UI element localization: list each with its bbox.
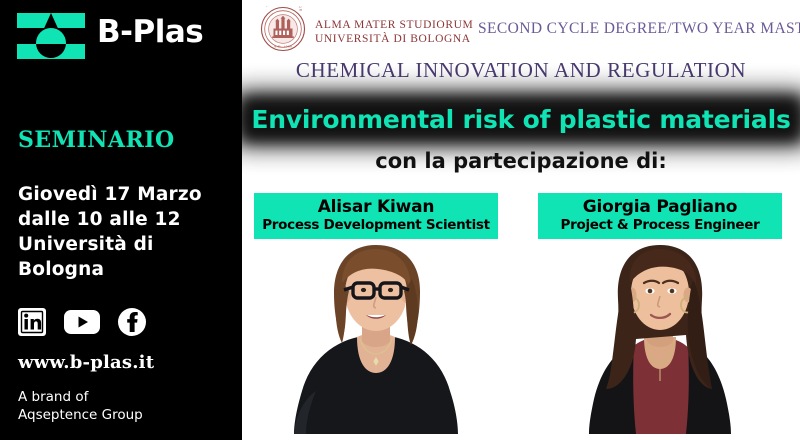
event-date: Giovedì 17 Marzo: [18, 182, 242, 207]
speaker-portrait-giorgia-pagliano: [538, 239, 782, 434]
parent-brand-line1: A brand of: [18, 388, 143, 406]
speaker-badge: Alisar Kiwan Process Development Scienti…: [254, 193, 498, 239]
speaker-name: Giorgia Pagliano: [544, 198, 776, 217]
event-location: Università di Bologna: [18, 232, 242, 282]
university-name-line1: ALMA MATER STUDIORUM: [315, 18, 473, 32]
university-name: ALMA MATER STUDIORUM UNIVERSITÀ DI BOLOG…: [315, 18, 473, 46]
participation-label: con la partecipazione di:: [242, 149, 800, 173]
facebook-icon[interactable]: [118, 308, 146, 341]
seminar-title-band: Environmental risk of plastic materials: [232, 88, 800, 150]
parent-brand-line2: Aqseptence Group: [18, 406, 143, 424]
linkedin-icon[interactable]: [18, 308, 46, 341]
seminar-title: Environmental risk of plastic materials: [242, 88, 800, 150]
b-plas-droplet-logo-icon: [17, 11, 85, 63]
brand-name: B-Plas: [97, 14, 203, 50]
youtube-icon[interactable]: [64, 309, 100, 340]
seminar-poster: B-Plas SEMINARIO Giovedì 17 Marzo dalle …: [0, 0, 800, 440]
event-time: dalle 10 alle 12: [18, 207, 242, 232]
parent-brand: A brand of Aqseptence Group: [18, 388, 143, 424]
social-links: [18, 308, 146, 341]
speaker-role: Project & Process Engineer: [544, 217, 776, 233]
website-link[interactable]: www.b-plas.it: [18, 352, 154, 373]
speaker-name: Alisar Kiwan: [260, 198, 492, 217]
university-name-line2: UNIVERSITÀ DI BOLOGNA: [315, 32, 473, 46]
speaker-role: Process Development Scientist: [260, 217, 492, 233]
speaker-portrait-alisar-kiwan: [254, 239, 498, 434]
speaker-card: Giorgia Pagliano Project & Process Engin…: [538, 193, 782, 434]
course-line: CHEMICAL INNOVATION AND REGULATION: [242, 58, 800, 83]
university-branding: ALMA MATER STUDIORUM A.D. 1088 ALMA MATE…: [260, 6, 473, 57]
svg-text:A.D. 1088: A.D. 1088: [274, 44, 293, 48]
event-details: Giovedì 17 Marzo dalle 10 alle 12 Univer…: [18, 182, 242, 282]
degree-line: SECOND CYCLE DEGREE/TWO YEAR MASTER IN: [478, 20, 800, 38]
sidebar: B-Plas SEMINARIO Giovedì 17 Marzo dalle …: [0, 0, 242, 440]
main-content: ALMA MATER STUDIORUM A.D. 1088 ALMA MATE…: [242, 0, 800, 440]
speaker-card: Alisar Kiwan Process Development Scienti…: [254, 193, 498, 434]
speaker-badge: Giorgia Pagliano Project & Process Engin…: [538, 193, 782, 239]
seminar-kicker: SEMINARIO: [18, 127, 175, 153]
unibo-seal-icon: ALMA MATER STUDIORUM A.D. 1088: [260, 6, 306, 57]
